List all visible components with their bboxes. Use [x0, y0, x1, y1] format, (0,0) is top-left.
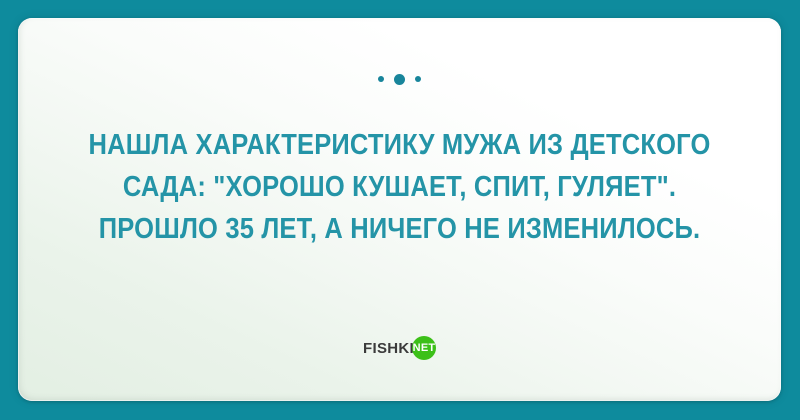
- dot-right-icon: [415, 76, 421, 82]
- quote-line-1: НАШЛА ХАРАКТЕРИСТИКУ МУЖА ИЗ ДЕТСКОГО: [64, 124, 735, 166]
- card-outer-frame: НАШЛА ХАРАКТЕРИСТИКУ МУЖА ИЗ ДЕТСКОГО СА…: [0, 0, 800, 420]
- quote-line-3: ПРОШЛО 35 ЛЕТ, А НИЧЕГО НЕ ИЗМЕНИЛОСЬ.: [64, 208, 735, 250]
- logo-wordmark: FISHKI: [363, 341, 414, 356]
- card-surface: НАШЛА ХАРАКТЕРИСТИКУ МУЖА ИЗ ДЕТСКОГО СА…: [18, 18, 781, 401]
- three-dots-ornament: [18, 72, 781, 86]
- site-logo[interactable]: FISHKI NET: [18, 336, 781, 360]
- quote-line-2: САДА: "ХОРОШО КУШАЕТ, СПИТ, ГУЛЯЕТ".: [64, 166, 735, 208]
- dot-center-icon: [394, 74, 405, 85]
- logo-net-badge-icon: NET: [412, 336, 436, 360]
- logo-badge-label: NET: [413, 343, 436, 354]
- quote-text: НАШЛА ХАРАКТЕРИСТИКУ МУЖА ИЗ ДЕТСКОГО СА…: [18, 124, 781, 250]
- dot-left-icon: [378, 76, 384, 82]
